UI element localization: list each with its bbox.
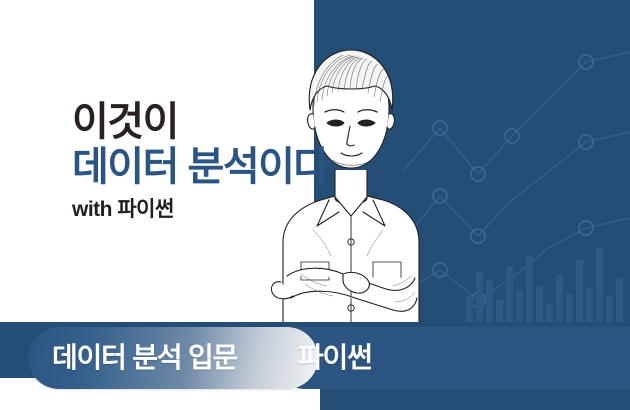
headline-subtitle: with 파이썬 [72,198,372,222]
headline-line-2: 데이터 분석이다 [72,144,372,190]
bar-chart-silhouette [466,248,623,322]
book-cover: 이것이 데이터 분석이다 with 파이썬 데이터 분석 입문 파이썬 [0,0,630,410]
badge-primary-label: 데이터 분석 입문 [52,336,237,380]
badge-secondary-label: 파이썬 [298,336,372,380]
headline-line-1: 이것이 [72,100,372,144]
headline-group: 이것이 데이터 분석이다 with 파이썬 [72,100,372,222]
badge-row: 데이터 분석 입문 파이썬 [0,316,630,392]
